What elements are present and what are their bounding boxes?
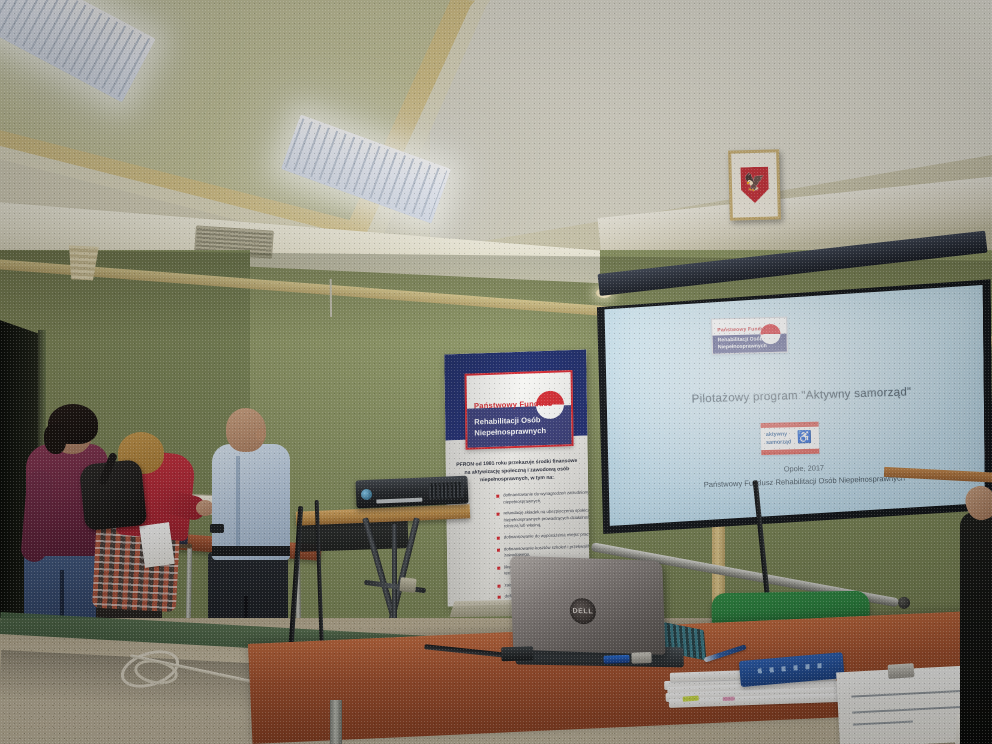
pfron-logo-line2: Rehabilitacji Osób Niepełnosprawnych <box>718 336 767 351</box>
pfron-logo-slide: Państwowy Fundusz Rehabilitacji Osób Nie… <box>711 317 788 355</box>
screen-hanger-wire <box>330 279 332 317</box>
paper-stack[interactable] <box>663 645 841 711</box>
projection-screen: Państwowy Fundusz Rehabilitacji Osób Nie… <box>595 278 992 534</box>
dell-laptop[interactable]: DELL <box>510 555 682 673</box>
held-papers <box>139 522 175 568</box>
banner-bullet-item: refundację składek na ubezpieczenia społ… <box>496 507 589 531</box>
screen-surface: Państwowy Fundusz Rehabilitacji Osób Nie… <box>603 284 985 526</box>
document-line <box>853 721 913 726</box>
conference-room-photo: 🦅 Państwowy Fundusz Rehabilitacji Osób N… <box>0 0 992 744</box>
coat-of-arms-shield: 🦅 <box>740 167 769 204</box>
dell-logo-icon: DELL <box>569 598 596 625</box>
coat-of-arms-mat: 🦅 <box>731 152 778 217</box>
pfron-logo-banner: Państwowy Fundusz Rehabilitacji Osób Nie… <box>465 370 574 450</box>
projector[interactable] <box>355 476 468 509</box>
usb-connector-blue[interactable] <box>603 655 629 664</box>
logo-text: aktywny samorząd <box>766 431 792 447</box>
projected-slide: Państwowy Fundusz Rehabilitacji Osób Nie… <box>610 288 992 534</box>
binder-holes <box>758 663 826 674</box>
banner-lead-text: PFRON od 1991 roku przekazuje środki fin… <box>454 458 580 486</box>
projector-label-strip <box>376 498 422 504</box>
banner-bullet-item: dofinansowanie do wyposażenia miejsc pra… <box>497 531 590 542</box>
belt <box>212 546 290 556</box>
paper-clip <box>888 663 915 679</box>
logo-bar-top <box>761 422 819 429</box>
person-edge-right <box>960 512 992 744</box>
backpack <box>79 459 148 531</box>
usb-connector-metal[interactable] <box>631 652 651 664</box>
banner-logo-lines: Rehabilitacji Osób Niepełnosprawnych <box>474 414 546 439</box>
screen-pull-rod-cap <box>898 597 910 609</box>
projector-lens-icon <box>361 489 372 500</box>
main-table-leg <box>330 700 342 744</box>
wheelchair-icon: ♿ <box>797 431 812 443</box>
eagle-icon: 🦅 <box>744 174 766 192</box>
light-blue-shirt <box>212 444 290 560</box>
dell-logo-text: DELL <box>572 607 593 615</box>
logo-text-line2: samorząd <box>766 439 791 447</box>
document-line <box>852 706 964 713</box>
logo-bar-bottom <box>761 449 819 456</box>
shirt-fold <box>236 456 240 548</box>
ear <box>256 428 266 441</box>
aktywny-samorzad-logo: aktywny samorząd ♿ <box>761 422 820 456</box>
document-line <box>851 689 977 697</box>
hair-side <box>44 424 66 454</box>
laptop-lid: DELL <box>510 556 666 655</box>
coat-of-arms-frame: 🦅 <box>728 149 781 220</box>
projector-vents <box>429 482 464 499</box>
slide-title: Pilotażowy program "Aktywny samorząd" <box>613 384 989 408</box>
pfron-logo-line3-text: Niepełnosprawnych <box>718 343 767 351</box>
laptop-port-block <box>501 646 533 661</box>
tripod-clamp[interactable] <box>399 577 416 593</box>
sticky-tab-pink <box>723 697 735 701</box>
wristwatch <box>210 524 224 533</box>
